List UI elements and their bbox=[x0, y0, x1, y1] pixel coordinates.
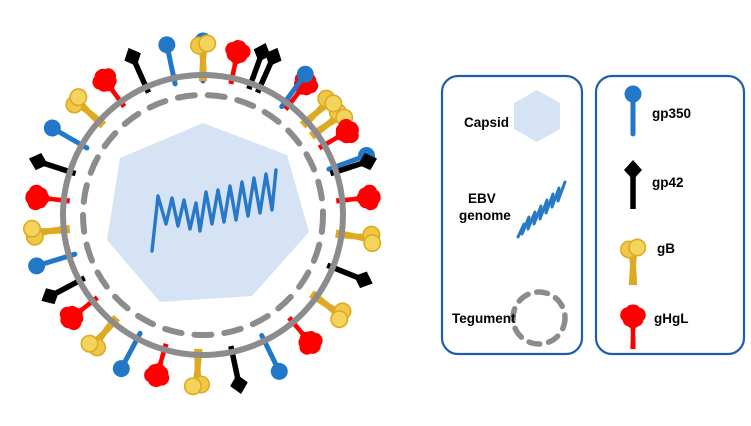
figure-canvas: Capsid EBV genome Tegument gp350 gp42 gB… bbox=[0, 0, 751, 426]
gHgL-spike bbox=[279, 309, 327, 359]
legend-label-ghgl: gHgL bbox=[654, 311, 689, 326]
legend-label-ebv-genome-line1: EBV bbox=[468, 191, 496, 206]
gB-spike bbox=[78, 310, 126, 361]
gp350-spike bbox=[41, 116, 92, 155]
ebv-virion bbox=[23, 33, 383, 396]
legend-label-gp42: gp42 bbox=[652, 175, 684, 190]
legend-label-gb: gB bbox=[657, 241, 675, 256]
glycoprotein-legend: gp350 gp42 gB gHgL bbox=[596, 76, 744, 354]
capsid-polygon bbox=[107, 123, 309, 302]
structure-legend: Capsid EBV genome Tegument bbox=[442, 76, 582, 354]
legend-label-tegument: Tegument bbox=[452, 311, 516, 326]
legend-label-capsid: Capsid bbox=[464, 115, 509, 130]
legend-label-gp350: gp350 bbox=[652, 106, 691, 121]
gB-spike bbox=[61, 86, 111, 135]
ebv-virion-figure: Capsid EBV genome Tegument gp350 gp42 gB… bbox=[0, 0, 751, 426]
legend-label-ebv-genome-line2: genome bbox=[459, 208, 511, 223]
